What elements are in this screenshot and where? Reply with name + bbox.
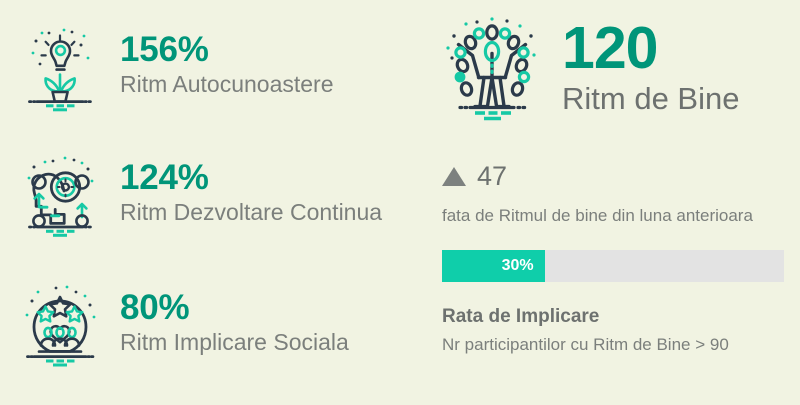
metric-value: 80%	[120, 290, 349, 326]
left-metrics-column: 156% Ritm Autocunoastere	[0, 0, 418, 405]
community-stars-heart-icon	[12, 275, 108, 371]
metric-text-autocunoastere: 156% Ritm Autocunoastere	[120, 32, 334, 99]
delta-value: 47	[477, 163, 507, 190]
right-summary-column: 120 Ritm de Bine 47 fata de Ritmul de bi…	[425, 0, 800, 405]
celebrating-person-icon	[432, 8, 552, 128]
hero-metric: 120 Ritm de Bine	[432, 8, 739, 128]
progress-subtitle: Nr participantilor cu Ritm de Bine > 90	[442, 335, 784, 355]
metric-text-dezvoltare: 124% Ritm Dezvoltare Continua	[120, 160, 382, 227]
progress-bar-track[interactable]: 30%	[442, 250, 784, 282]
metric-row-implicare: 80% Ritm Implicare Sociala	[12, 268, 412, 378]
delta-caption: fata de Ritmul de bine din luna anterioa…	[442, 206, 753, 226]
progress-percent-label: 30%	[502, 258, 534, 274]
hero-label: Ritm de Bine	[562, 82, 739, 116]
progress-bar-fill: 30%	[442, 250, 545, 282]
hero-text: 120 Ritm de Bine	[562, 20, 739, 116]
progress-title: Rata de Implicare	[442, 306, 784, 328]
metric-row-autocunoastere: 156% Ritm Autocunoastere	[12, 10, 412, 120]
head-gear-growth-icon	[12, 145, 108, 241]
metric-text-implicare: 80% Ritm Implicare Sociala	[120, 290, 349, 357]
hero-value: 120	[562, 20, 739, 78]
lightbulb-plant-icon	[12, 17, 108, 113]
delta-block: 47 fata de Ritmul de bine din luna anter…	[442, 160, 753, 226]
triangle-up-icon	[442, 167, 466, 186]
metric-row-dezvoltare: 124% Ritm Dezvoltare Continua	[12, 138, 412, 248]
metric-label: Ritm Autocunoastere	[120, 71, 334, 99]
metric-label: Ritm Implicare Sociala	[120, 329, 349, 357]
metric-label: Ritm Dezvoltare Continua	[120, 199, 382, 227]
metric-value: 124%	[120, 160, 382, 196]
progress-block: 30% Rata de Implicare Nr participantilor…	[442, 250, 784, 355]
delta-row: 47	[442, 160, 753, 192]
metric-value: 156%	[120, 32, 334, 68]
kpi-dashboard: 156% Ritm Autocunoastere	[0, 0, 800, 405]
